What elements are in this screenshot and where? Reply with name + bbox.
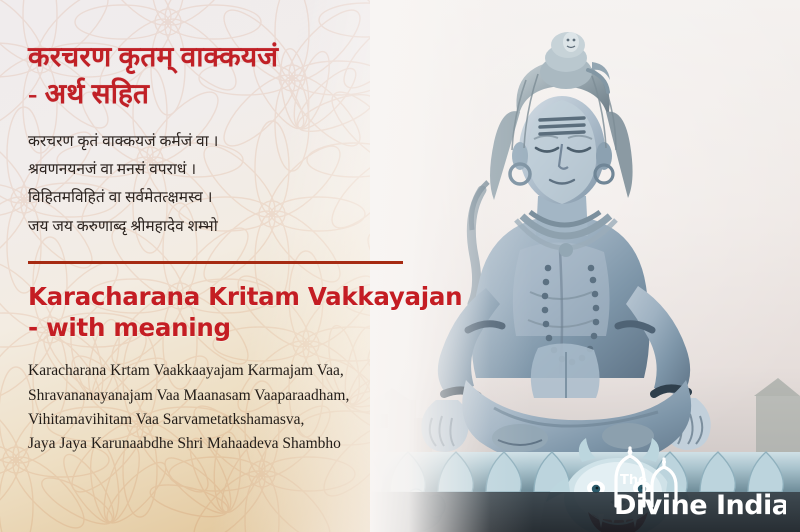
english-verse-line: Shravananayanajam Vaa Maanasam Vaaparaad…	[28, 384, 458, 408]
text-content: करचरण कृतम् वाक्कयजं - अर्थ सहित करचरण क…	[0, 0, 470, 532]
english-verse-line: Vihitamavihitam Vaa Sarvametatkshamasva,	[28, 408, 458, 432]
english-verse: Karacharana Krtam Vaakkaayajam Karmajam …	[28, 359, 458, 456]
hindi-title-line1: करचरण कृतम् वाक्कयजं	[28, 42, 278, 73]
hindi-verse-line: करचरण कृतं वाक्कयजं कर्मजं वा ।	[28, 128, 438, 156]
hindi-verse-line: जय जय करुणाब्दृ श्रीमहादेव शम्भो	[28, 213, 438, 241]
english-title: Karacharana Kritam Vakkayajan - with mea…	[28, 281, 468, 344]
english-title-line1: Karacharana Kritam Vakkayajan	[28, 282, 462, 311]
hindi-verse: करचरण कृतं वाक्कयजं कर्मजं वा । श्रवणनयन…	[28, 128, 438, 241]
logo-name: Divine India	[614, 490, 786, 521]
hindi-verse-line: विहितमविहितं वा सर्वमेतत्क्षमस्व ।	[28, 184, 438, 212]
hindi-verse-line: श्रवणनयनजं वा मनसं वपराधं ।	[28, 156, 438, 184]
divine-india-banner: करचरण कृतम् वाक्कयजं - अर्थ सहित करचरण क…	[0, 0, 800, 532]
english-title-line2: - with meaning	[28, 312, 468, 343]
logo-the: The	[620, 473, 647, 488]
english-verse-line: Jaya Jaya Karunaabdhe Shri Mahaadeva Sha…	[28, 432, 458, 456]
hindi-title-line2: - अर्थ सहित	[28, 77, 428, 114]
english-verse-line: Karacharana Krtam Vaakkaayajam Karmajam …	[28, 359, 458, 383]
section-divider	[28, 261, 403, 264]
divine-india-logo[interactable]: The Divine India	[606, 446, 786, 524]
hindi-title: करचरण कृतम् वाक्कयजं - अर्थ सहित	[28, 40, 428, 114]
